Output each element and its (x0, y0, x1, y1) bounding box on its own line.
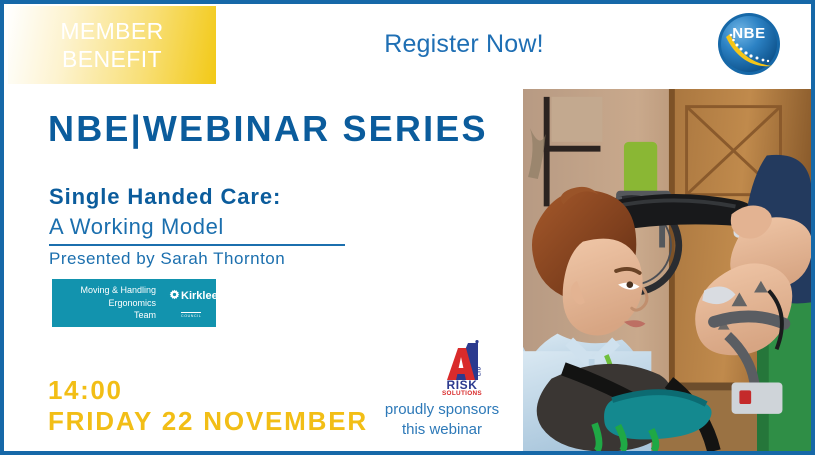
register-now-link[interactable]: Register Now! (304, 30, 624, 59)
webinar-topic-title: Single Handed Care: (49, 184, 281, 210)
svg-text:SOLUTIONS: SOLUTIONS (442, 390, 482, 396)
webinar-photo (523, 89, 811, 451)
kirklees-wordmark: Kirklees (181, 290, 224, 302)
webinar-time: 14:00 (48, 375, 123, 406)
mhet-line-3: Team (52, 309, 156, 321)
mhet-line-1: Moving & Handling (52, 284, 156, 296)
nbe-roundel-logo: NBE (715, 10, 783, 78)
webinar-topic-subtitle: A Working Model (49, 214, 224, 240)
kirklees-brand: Kirklees COUNCIL (169, 284, 224, 322)
page-title: NBE|WEBINAR SERIES (48, 108, 488, 150)
sponsor-caption: proudly sponsors this webinar (362, 400, 522, 440)
kirklees-gear-icon (169, 287, 180, 305)
webinar-promo-poster: MEMBER BENEFIT Register Now! (0, 0, 815, 455)
member-benefit-line-2: BENEFIT (62, 45, 162, 73)
mhet-line-2: Ergonomics (52, 297, 156, 309)
svg-text:NBE: NBE (732, 25, 765, 42)
presenter-name: Presented by Sarah Thornton (49, 249, 285, 269)
mhet-kirklees-logo: Moving & Handling Ergonomics Team Kirkle… (52, 279, 216, 327)
divider-rule (49, 244, 345, 246)
member-benefit-line-1: MEMBER (60, 17, 163, 45)
svg-text:LTD: LTD (477, 366, 483, 376)
sponsor-caption-line-2: this webinar (362, 420, 522, 440)
kirklees-council-label: COUNCIL (181, 312, 201, 318)
a1-risk-solutions-logo: LTD RISK SOLUTIONS (422, 340, 502, 396)
mhet-team-name: Moving & Handling Ergonomics Team (52, 284, 162, 321)
member-benefit-badge: MEMBER BENEFIT (8, 6, 216, 84)
sponsor-caption-line-1: proudly sponsors (362, 400, 522, 420)
webinar-date: FRIDAY 22 NOVEMBER (48, 406, 368, 437)
